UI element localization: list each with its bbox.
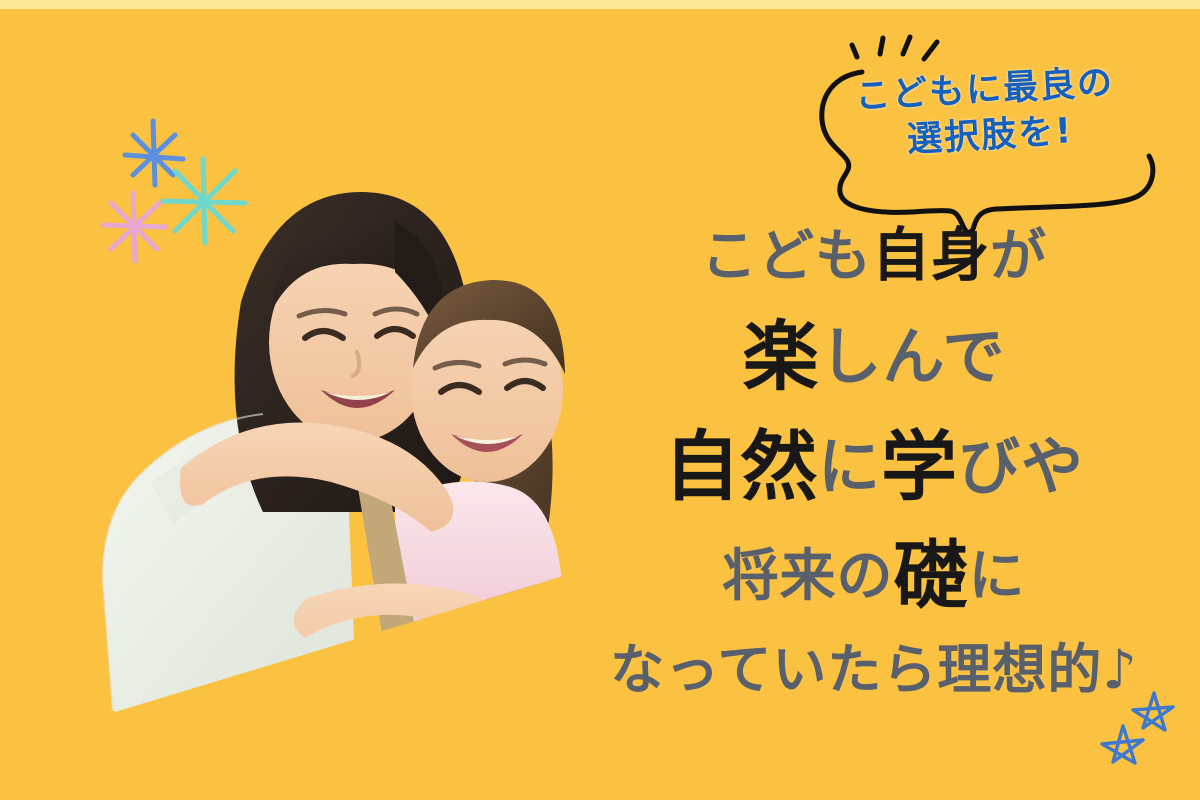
promo-banner: こどもに最良の 選択肢を! こども自身が 楽しんで 自然に学びや 将来の礎に な… bbox=[0, 0, 1200, 800]
emphasis-marks-icon bbox=[852, 37, 937, 59]
headline-seg-emphasis: 楽 bbox=[743, 312, 820, 401]
top-accent-band bbox=[0, 0, 1200, 9]
headline-seg: しんで bbox=[820, 320, 1006, 393]
headline-line-4: 将来の礎に bbox=[558, 539, 1190, 613]
sparkle-pink-icon bbox=[103, 193, 165, 261]
star-cluster bbox=[1075, 690, 1200, 795]
sparkle-teal-icon bbox=[163, 159, 245, 243]
star-lower-icon bbox=[1102, 726, 1143, 763]
sparkle-cluster bbox=[95, 115, 275, 285]
headline: こども自身が 楽しんで 自然に学びや 将来の礎に なっていたら理想的♪ bbox=[558, 226, 1190, 697]
headline-seg: なっていたら理想的♪ bbox=[610, 638, 1138, 701]
headline-seg-emphasis: 学 bbox=[881, 422, 958, 511]
headline-line-3: 自然に学びや bbox=[558, 429, 1190, 505]
headline-seg: に bbox=[969, 544, 1026, 609]
callout-bubble: こどもに最良の 選択肢を! bbox=[800, 28, 1172, 243]
headline-line-5: なっていたら理想的♪ bbox=[558, 643, 1190, 697]
headline-seg: 将来の bbox=[723, 544, 894, 609]
headline-seg: に bbox=[818, 430, 881, 503]
headline-line-2: 楽しんで bbox=[558, 319, 1190, 395]
headline-line-1: こども自身が bbox=[558, 226, 1190, 285]
headline-seg-emphasis: 自身 bbox=[872, 221, 990, 289]
sparkle-blue-icon bbox=[125, 121, 183, 185]
headline-seg-emphasis: 礎 bbox=[894, 533, 969, 619]
headline-seg-emphasis: 自然 bbox=[664, 422, 818, 511]
star-upper-icon bbox=[1133, 693, 1173, 730]
headline-seg: こども bbox=[701, 224, 872, 289]
headline-seg: びや bbox=[958, 430, 1084, 503]
headline-seg: が bbox=[990, 224, 1047, 289]
